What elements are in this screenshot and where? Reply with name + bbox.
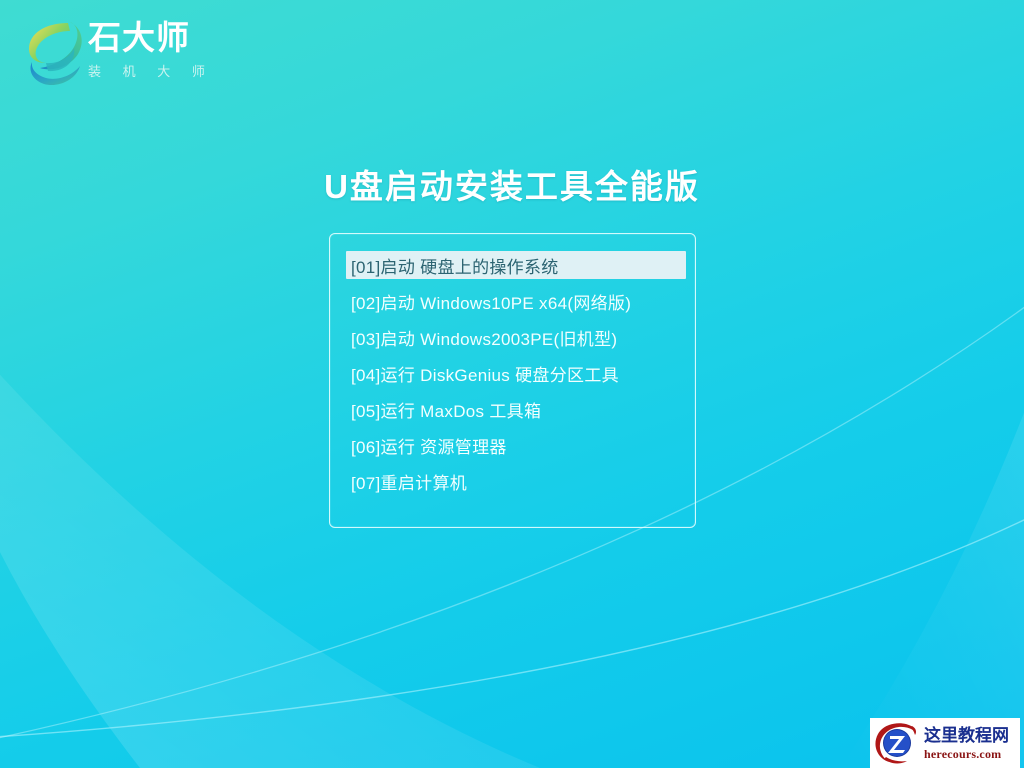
menu-item-label: [02]启动 Windows10PE x64(网络版) xyxy=(351,289,631,314)
watermark-site-name: 这里教程网 xyxy=(924,727,1020,744)
brand-subtitle: 装 机 大 师 xyxy=(88,61,220,83)
watermark-text: 这里教程网 herecours.com xyxy=(922,727,1020,760)
boot-menu-screen: 石大师 装 机 大 师 U盘启动安装工具全能版 [01]启动 硬盘上的操作系统 … xyxy=(0,0,1024,768)
boot-menu-list: [01]启动 硬盘上的操作系统 [02]启动 Windows10PE x64(网… xyxy=(330,251,695,495)
menu-item-label: [05]运行 MaxDos 工具箱 xyxy=(351,397,541,422)
page-title: U盘启动安装工具全能版 xyxy=(0,160,1024,208)
menu-item-label: [04]运行 DiskGenius 硬盘分区工具 xyxy=(351,361,619,386)
background-band-right xyxy=(840,300,1024,768)
menu-item-01[interactable]: [01]启动 硬盘上的操作系统 xyxy=(346,251,686,279)
z-orbit-watermark-icon xyxy=(872,721,922,765)
menu-item-03[interactable]: [03]启动 Windows2003PE(旧机型) xyxy=(330,323,695,351)
menu-item-02[interactable]: [02]启动 Windows10PE x64(网络版) xyxy=(330,287,695,315)
brand-title: 石大师 xyxy=(88,18,220,58)
menu-item-05[interactable]: [05]运行 MaxDos 工具箱 xyxy=(330,395,695,423)
menu-item-04[interactable]: [04]运行 DiskGenius 硬盘分区工具 xyxy=(330,359,695,387)
brand-text: 石大师 装 机 大 师 xyxy=(88,18,220,83)
menu-item-label: [03]启动 Windows2003PE(旧机型) xyxy=(351,325,617,350)
background-arc-lower xyxy=(0,500,1024,738)
watermark: 这里教程网 herecours.com xyxy=(870,718,1020,768)
shidashi-s-logo-icon xyxy=(22,18,86,90)
menu-item-label: [07]重启计算机 xyxy=(351,469,467,494)
menu-item-label: [01]启动 硬盘上的操作系统 xyxy=(351,253,559,278)
menu-item-07[interactable]: [07]重启计算机 xyxy=(330,467,695,495)
menu-item-label: [06]运行 资源管理器 xyxy=(351,433,507,458)
menu-item-06[interactable]: [06]运行 资源管理器 xyxy=(330,431,695,459)
watermark-url: herecours.com xyxy=(924,748,1020,760)
brand-logo: 石大师 装 机 大 师 xyxy=(22,14,222,96)
boot-menu-panel: [01]启动 硬盘上的操作系统 [02]启动 Windows10PE x64(网… xyxy=(329,233,696,528)
